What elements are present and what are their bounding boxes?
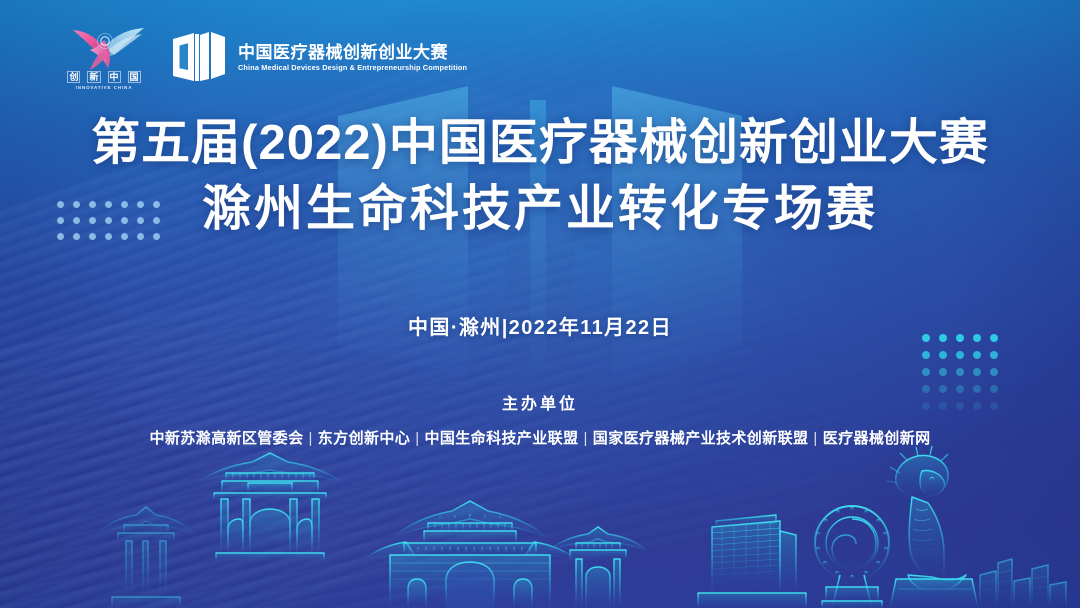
dove-ribbon-icon [60,26,148,70]
char-xin: 新 [87,71,100,83]
open-book-door-icon [170,29,228,87]
organizer-separator: | [410,430,424,447]
char-chuang: 创 [67,71,80,83]
diagonal-streaks-icon [0,0,996,608]
date-location-line: 中国·滁州|2022年11月22日 [0,311,1080,340]
dot [939,368,947,376]
title-line-2: 滁州生命科技产业转化专场赛 [0,178,1080,240]
title-block: 第五届(2022)中国医疗器械创新创业大赛 滁州生命科技产业转化专场赛 [0,112,1080,240]
organizer-name: 东方创新中心 [318,430,410,447]
competition-name-cn: 中国医疗器械创新创业大赛 [238,43,469,63]
organizer-separator: | [808,430,822,447]
dot [956,351,964,359]
organizer-name: 国家医疗器械产业技术创新联盟 [593,430,809,447]
organizer-name: 医疗器械创新网 [823,430,931,447]
organizers-list: 中新苏滁高新区管委会|东方创新中心|中国生命科技产业联盟|国家医疗器械产业技术创… [0,427,1080,448]
header-logos: 创 新 中 国 INNOVATIVE CHINA [60,26,469,90]
char-guo: 国 [128,71,141,83]
dot [973,351,981,359]
background-glow [0,0,1080,608]
city-skyline-icon [0,423,1080,608]
dot [973,368,981,376]
dot [990,368,998,376]
competition-logo-text: 中国医疗器械创新创业大赛 China Medical Devices Desig… [238,43,469,73]
dot [922,351,930,359]
dot [922,368,930,376]
char-zhong: 中 [108,71,121,83]
event-banner: 创 新 中 国 INNOVATIVE CHINA [0,0,1080,608]
innovative-china-cn-chars: 创 新 中 国 [60,71,148,83]
innovative-china-en: INNOVATIVE CHINA [60,85,148,90]
dot [956,368,964,376]
organizer-name: 中国生命科技产业联盟 [424,430,578,447]
organizer-separator: | [579,430,593,447]
dot [939,351,947,359]
organizer-separator: | [303,430,317,447]
innovative-china-logo: 创 新 中 国 INNOVATIVE CHINA [60,26,148,90]
organizer-name: 中新苏滁高新区管委会 [149,430,303,447]
competition-name-en: China Medical Devices Design & Entrepren… [238,63,467,73]
dot [990,351,998,359]
competition-logo: 中国医疗器械创新创业大赛 China Medical Devices Desig… [170,29,469,87]
title-line-1: 第五届(2022)中国医疗器械创新创业大赛 [0,112,1080,174]
background-vignette [0,0,1080,608]
organizers-heading: 主办单位 [0,390,1080,414]
